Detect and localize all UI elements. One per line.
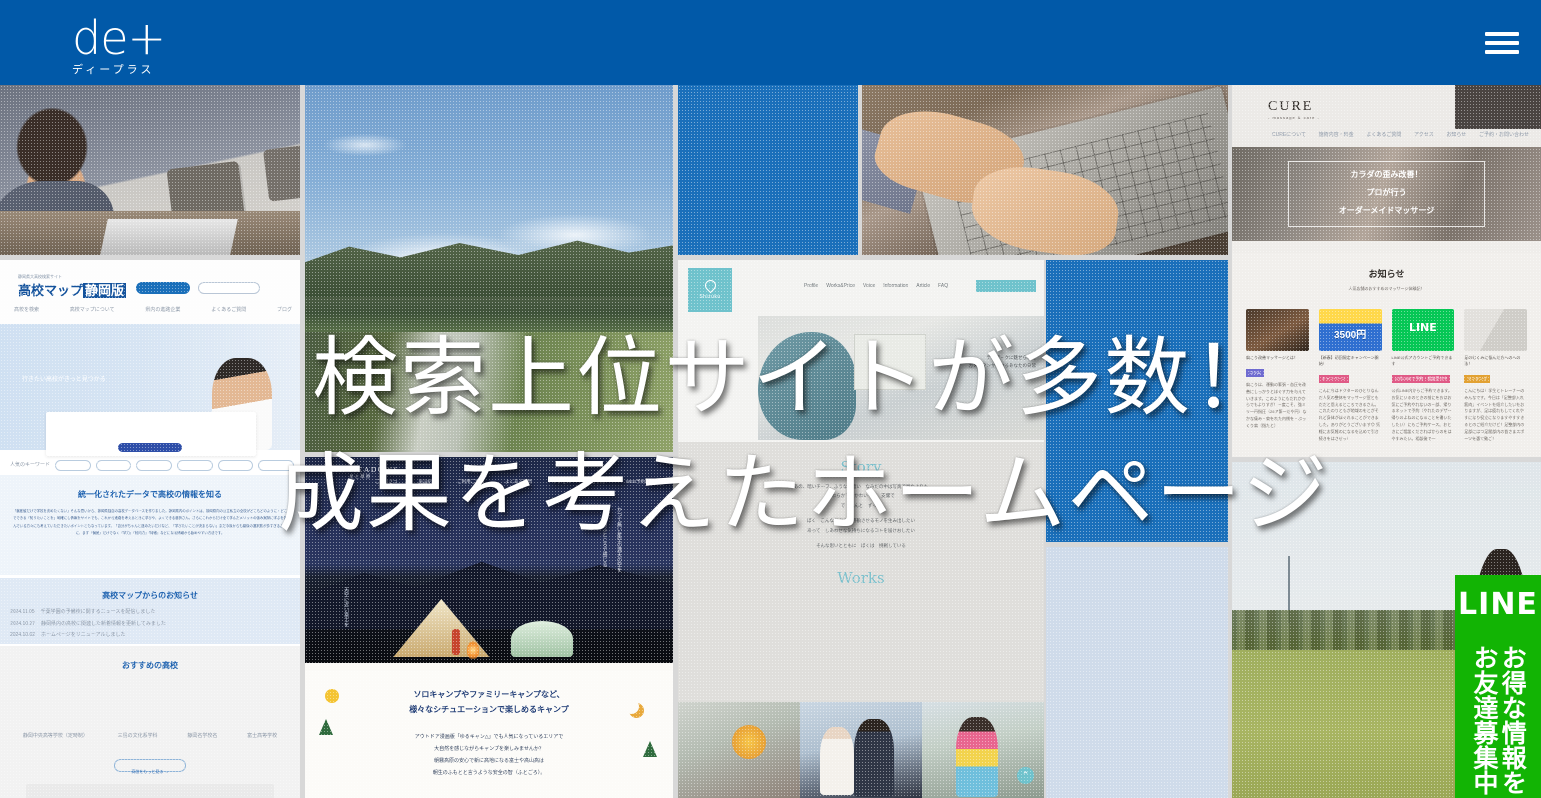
shz-nav-item[interactable]: Information bbox=[883, 283, 908, 289]
tile-shizuku-website: Shizuku Profile Works&Price Voice Inform… bbox=[678, 260, 1044, 798]
shz-nav-item[interactable]: Article bbox=[916, 283, 930, 289]
news-badge: キャンペーン bbox=[1319, 375, 1349, 383]
line-banner-text-col1: お得な情報を bbox=[1499, 645, 1525, 798]
hs-keyword-chip[interactable] bbox=[55, 460, 91, 471]
shz-nav-item[interactable]: FAQ bbox=[938, 283, 948, 289]
hs-news-item[interactable]: ホームページをリニューアルしました bbox=[41, 632, 126, 640]
hs-logo-main: 高校マップ bbox=[18, 283, 83, 298]
hs-hero-text: 行きたい高校がきっと見つかる bbox=[22, 374, 106, 383]
hs-keyword-chip[interactable] bbox=[96, 460, 132, 471]
tile-sky-river-photo bbox=[305, 85, 673, 452]
news-thumbnail-line: LINE bbox=[1392, 309, 1455, 351]
cure-nav-item[interactable]: よくあるご質問 bbox=[1366, 132, 1401, 140]
cure-hero: カラダの歪み改善！ プロが行う オーダーメイドマッサージ bbox=[1232, 147, 1541, 241]
cure-news-card[interactable]: 足のむくみに悩んだ方へのへの法！ ランキング こんにちは！学生とトレーナーのみん… bbox=[1464, 309, 1527, 442]
camping-headline-1: ソロキャンプやファミリーキャンプなど、 bbox=[305, 671, 673, 702]
scroll-to-top-button[interactable]: ⌃ bbox=[1017, 767, 1034, 784]
cure-news-card[interactable]: 肩こり改善マッサージとは！ コラム 肩こりは、運動の緊張・血圧を改善にしっかりと… bbox=[1246, 309, 1309, 442]
shizuku-works-gallery bbox=[678, 702, 1044, 798]
hs-ad-placeholder bbox=[26, 784, 274, 798]
hs-section3-title: おすすめの高校 bbox=[0, 646, 300, 671]
portfolio-mosaic-grid: CURE - massage & care - CUREについて 施術内容・料金… bbox=[0, 85, 1541, 798]
cure-nav-item[interactable]: CUREについて bbox=[1272, 132, 1306, 140]
shizuku-story-title: Story bbox=[678, 442, 1044, 476]
logo-text-main: de+ bbox=[72, 17, 192, 59]
hs-secondary-button[interactable] bbox=[198, 282, 260, 294]
news-thumbnail: 3500円 bbox=[1319, 309, 1382, 351]
hs-nav-item[interactable]: 高校マップについて bbox=[70, 307, 115, 315]
shizuku-contact-button[interactable] bbox=[976, 280, 1036, 292]
camping-headline-2: 様々なシチュエーションで楽しめるキャンプ bbox=[305, 702, 673, 717]
news-badge: コラム bbox=[1246, 369, 1264, 377]
cure-news-card-list: 肩こり改善マッサージとは！ コラム 肩こりは、運動の緊張・血圧を改善にしっかりと… bbox=[1246, 309, 1527, 442]
hs-nav[interactable]: 高校を検索 高校マップについて 県内の進路企業 よくあるご質問 ブログ bbox=[14, 307, 292, 315]
hs-nav-item[interactable]: よくあるご質問 bbox=[211, 307, 246, 315]
line-banner-text-col2: お友達募集中 bbox=[1471, 645, 1497, 798]
cmp-nav-item[interactable]: ご利用ご案内 bbox=[457, 479, 484, 485]
news-badge: ランキング bbox=[1464, 375, 1490, 383]
site-logo[interactable]: de+ ディープラス bbox=[72, 17, 192, 77]
camping-vertical-copy-2: 天空に近い富士を bbox=[343, 587, 350, 627]
hs-school-name[interactable]: 静岡中央高等学校（定時制） bbox=[23, 733, 88, 741]
promo-price: 3500円 bbox=[1319, 309, 1382, 341]
hs-keyword-chip[interactable] bbox=[218, 460, 254, 471]
cure-nav[interactable]: CUREについて 施術内容・料金 よくあるご質問 アクセス お知らせ ご予約・お… bbox=[1272, 132, 1529, 140]
cure-news-card[interactable]: 3500円 【新春】初回限定キャンペーン開始！ キャンペーン こんにちはドクター… bbox=[1319, 309, 1382, 442]
cure-news-title: お知らせ bbox=[1232, 267, 1541, 280]
hs-logo-badge: 静岡版 bbox=[83, 283, 126, 298]
tile-cure-website: CURE - massage & care - CUREについて 施術内容・料金… bbox=[1232, 85, 1541, 457]
cure-nav-item[interactable]: アクセス bbox=[1414, 132, 1434, 140]
hs-school-name[interactable]: 三島の文化系学科 bbox=[118, 733, 158, 741]
hs-school-name[interactable]: 静岡名学校名 bbox=[187, 733, 217, 741]
sun-icon bbox=[325, 689, 339, 703]
cmp-nav-item[interactable]: ごあいさつ bbox=[375, 479, 398, 485]
hs-more-button[interactable]: 高校をもっと見る → bbox=[131, 769, 168, 774]
shizuku-hero: デンマークに魅せられた カメラマンが届けるあなたの日常 bbox=[758, 316, 1044, 440]
cmp-reserve-link[interactable]: ご予約 bbox=[591, 479, 605, 485]
hs-keyword-chip[interactable] bbox=[136, 460, 172, 471]
cmp-nav-item[interactable]: アクセス bbox=[553, 479, 571, 485]
hs-keyword-chip[interactable] bbox=[258, 460, 294, 471]
hs-section1-title: 統一化されたデータで高校の情報を知る bbox=[0, 475, 300, 500]
cure-hero-line1: カラダの歪み改善！ bbox=[1232, 169, 1541, 180]
shz-nav-item[interactable]: Works&Price bbox=[826, 283, 855, 289]
cure-hero-line3: オーダーメイドマッサージ bbox=[1232, 205, 1541, 216]
hs-nav-item[interactable]: 県内の進路企業 bbox=[145, 307, 180, 315]
news-badge: 公式LINEで予約・相談受付中 bbox=[1392, 375, 1451, 383]
works-thumb-interior[interactable] bbox=[678, 702, 800, 798]
hs-search-button[interactable] bbox=[136, 282, 190, 294]
works-thumb-wedding[interactable] bbox=[800, 702, 922, 798]
hs-search-submit[interactable] bbox=[118, 443, 182, 452]
tile-blue-solid-2 bbox=[1046, 260, 1228, 542]
logo-text-sub: ディープラス bbox=[72, 61, 192, 77]
news-thumbnail bbox=[1464, 309, 1527, 351]
hs-news-item[interactable]: 千葉学園の予備校に関するニュースを配信しました bbox=[41, 609, 156, 617]
tile-blue-pale-solid bbox=[1046, 547, 1228, 798]
cure-logo-sub: - massage & care - bbox=[1268, 115, 1320, 120]
hs-search-card[interactable] bbox=[46, 412, 256, 456]
tile-office-photo bbox=[0, 85, 300, 255]
cure-logo: CURE bbox=[1268, 99, 1320, 115]
tree-icon bbox=[319, 719, 333, 735]
hs-keyword-row: 人気のキーワード bbox=[10, 460, 294, 471]
site-header: de+ ディープラス bbox=[0, 0, 1541, 85]
tile-blue-solid-1 bbox=[678, 85, 858, 255]
camping-logo: STAR MEADOWS bbox=[321, 465, 399, 474]
cmp-nav-item[interactable]: よくある質問 bbox=[505, 479, 532, 485]
cure-news-subtitle: 人気店舗のおすすめのマッサージ体験記！ bbox=[1232, 286, 1541, 292]
cure-nav-item[interactable]: お知らせ bbox=[1446, 132, 1466, 140]
camping-hero: STAR MEADOWS 星と草原 ごあいさつ 施設紹介 ご利用ご案内 よくある… bbox=[305, 457, 673, 663]
shizuku-nav[interactable]: Profile Works&Price Voice Information Ar… bbox=[804, 280, 1036, 292]
tile-camping-website: STAR MEADOWS 星と草原 ごあいさつ 施設紹介 ご利用ご案内 よくある… bbox=[305, 457, 673, 798]
line-logo-text: LINE bbox=[1392, 309, 1455, 334]
moon-icon bbox=[624, 699, 639, 714]
shizuku-logo[interactable]: Shizuku bbox=[688, 268, 732, 312]
hs-section2-title: 高校マップからのお知らせ bbox=[0, 578, 300, 601]
cmp-web-reserve-link[interactable]: WEB予約はこちら bbox=[626, 479, 663, 485]
cure-hero-line2: プロが行う bbox=[1232, 187, 1541, 198]
cure-nav-item[interactable]: ご予約・お問い合わせ bbox=[1479, 132, 1529, 140]
hs-school-name[interactable]: 富士高等学校 bbox=[247, 733, 277, 741]
cure-news-card[interactable]: LINE LINE公式アカウントご予約できます 公式LINEで予約・相談受付中 … bbox=[1392, 309, 1455, 442]
tree-icon bbox=[643, 741, 657, 757]
hs-keyword-chip[interactable] bbox=[177, 460, 213, 471]
news-thumbnail bbox=[1246, 309, 1309, 351]
tile-keyboard-photo bbox=[862, 85, 1228, 255]
hs-nav-item[interactable]: 高校を検索 bbox=[14, 307, 39, 315]
cure-header-badge bbox=[1455, 85, 1541, 129]
hs-nav-item[interactable]: ブログ bbox=[277, 307, 292, 315]
camping-vertical-copy: 富士山のふところで感じる かつて無い星空の満天の空を bbox=[601, 507, 655, 572]
line-logo: LINE bbox=[1455, 587, 1541, 622]
hamburger-menu-icon[interactable] bbox=[1485, 28, 1519, 58]
hs-news-item[interactable]: 静岡県内の高校に関連した新着情報を更新してみました bbox=[41, 621, 166, 629]
shizuku-works-title: Works bbox=[678, 551, 1044, 587]
line-friend-banner[interactable]: LINE お友達募集中 お得な情報を bbox=[1455, 575, 1541, 798]
shz-nav-item[interactable]: Profile bbox=[804, 283, 818, 289]
cmp-nav-item[interactable]: 施設紹介 bbox=[418, 479, 436, 485]
camping-nav[interactable]: ごあいさつ 施設紹介 ご利用ご案内 よくある質問 アクセス ご予約 WEB予約は… bbox=[375, 479, 663, 485]
cure-nav-item[interactable]: 施術内容・料金 bbox=[1319, 132, 1354, 140]
water-drop-icon bbox=[702, 278, 718, 294]
shz-nav-item[interactable]: Voice bbox=[863, 283, 875, 289]
tile-highschool-map-website: 静岡県大高校検索サイト 高校マップ静岡版 高校を検索 高校マップについて 県内の… bbox=[0, 260, 300, 798]
